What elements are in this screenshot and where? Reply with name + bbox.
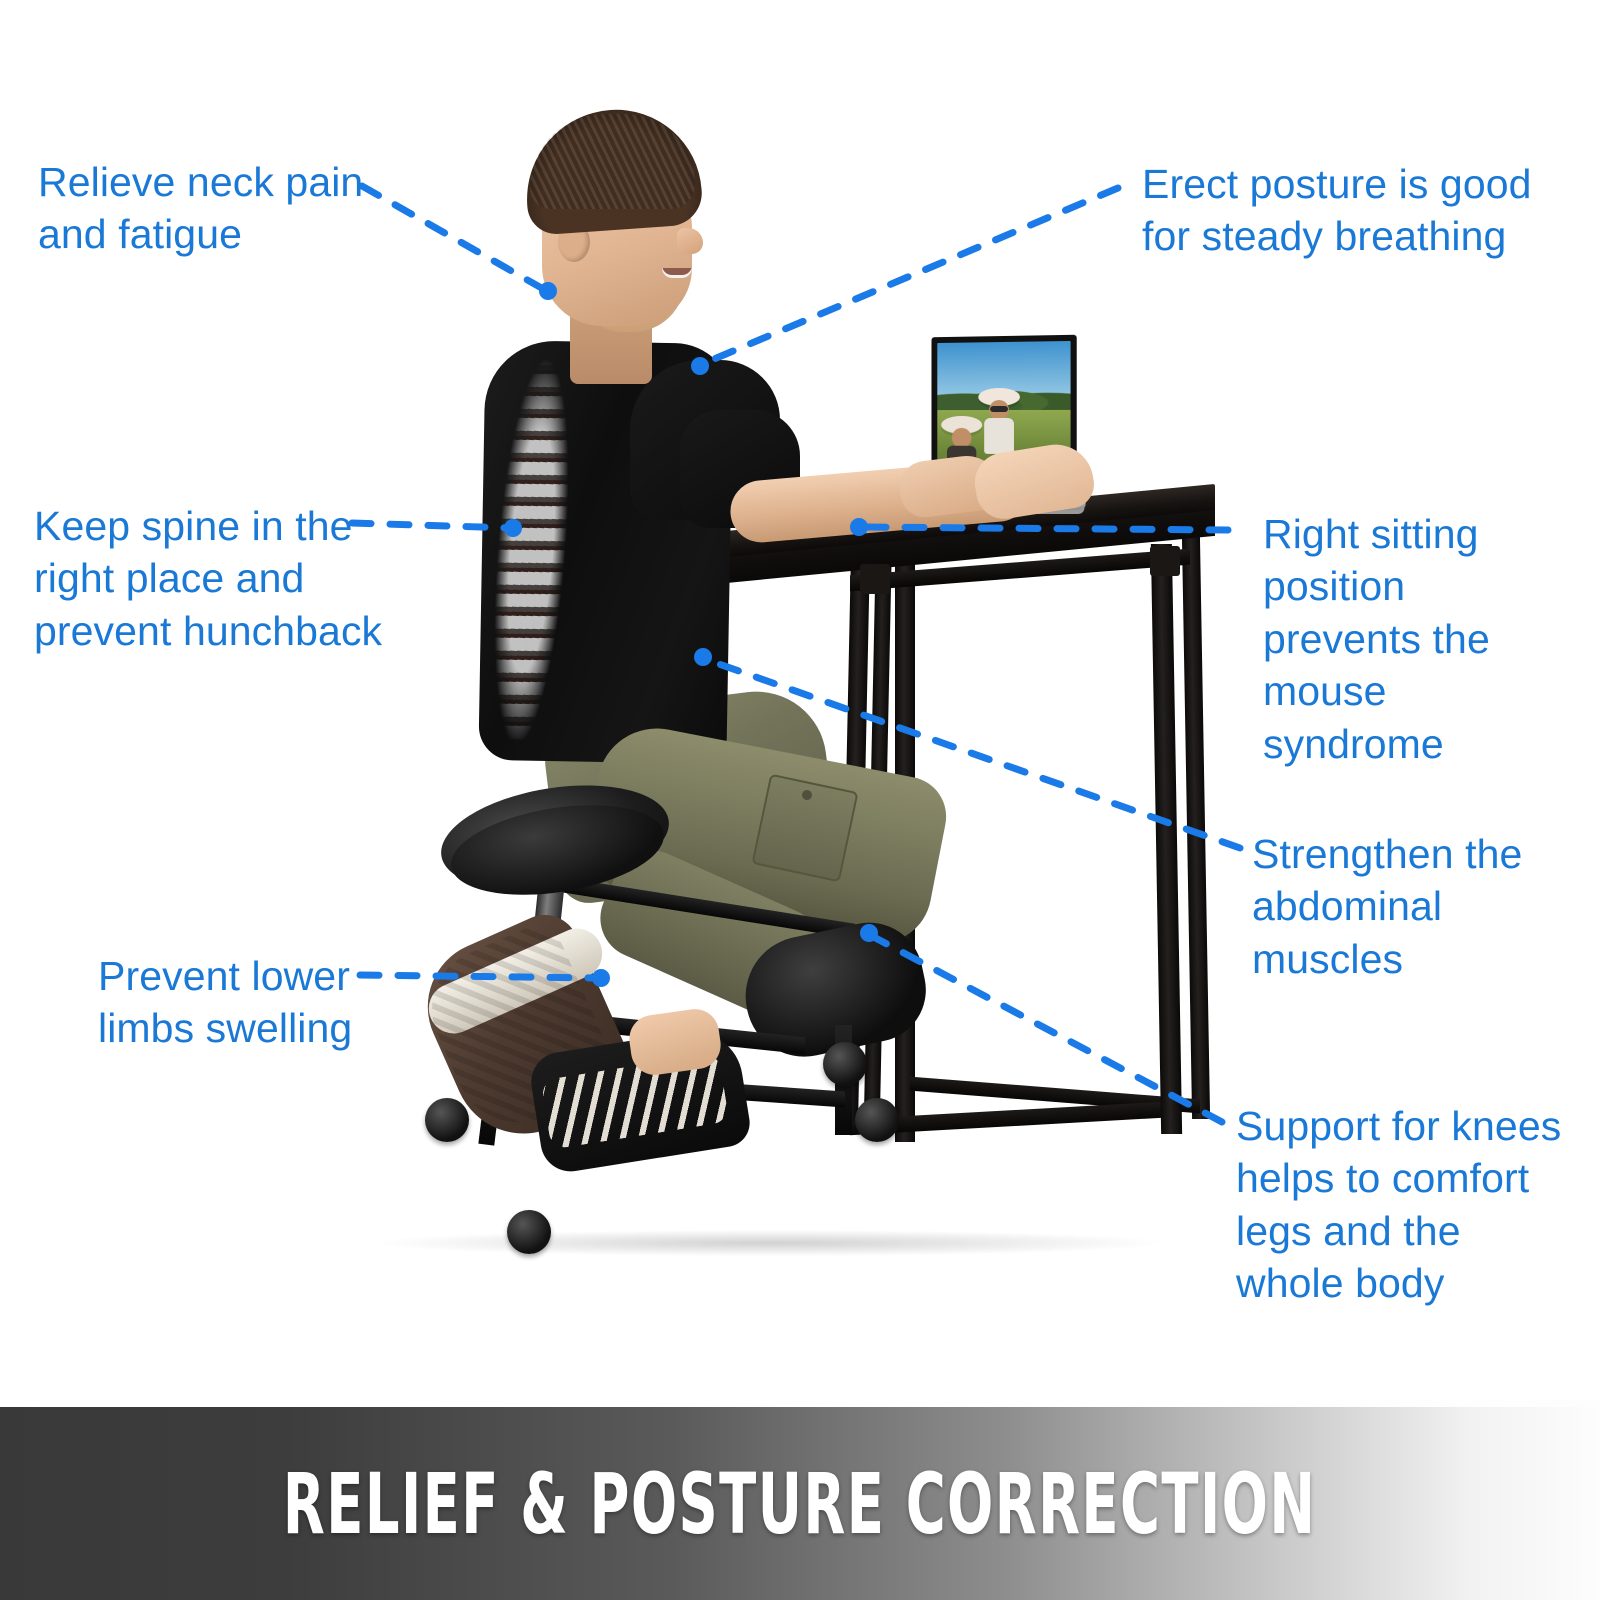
desk-leg-back-right — [1182, 534, 1210, 1119]
annotation-right-sitting-position: Right sitting position prevents the mous… — [1263, 508, 1490, 770]
nose — [677, 228, 703, 254]
annotation-prevent-lower-limbs-swelling: Prevent lower limbs swelling — [98, 950, 352, 1055]
chair-caster-rear — [823, 1042, 867, 1086]
desk-bracket-right — [1150, 546, 1180, 576]
annotation-strengthen-abdominal: Strengthen the abdominal muscles — [1252, 828, 1522, 985]
banner-title: RELIEF & POSTURE CORRECTION — [283, 1455, 1316, 1553]
annotation-keep-spine: Keep spine in the right place and preven… — [34, 500, 382, 657]
chair-frame-upper — [555, 876, 855, 939]
product-photo-stage: Relieve neck pain and fatigue Erect post… — [0, 0, 1600, 1400]
desk-leg-front-right — [1151, 544, 1182, 1134]
chair-caster-right — [855, 1098, 899, 1142]
annotation-erect-posture: Erect posture is good for steady breathi… — [1142, 158, 1532, 263]
product-infographic: Relieve neck pain and fatigue Erect post… — [0, 0, 1600, 1600]
chair-caster-front — [507, 1210, 551, 1254]
annotation-relieve-neck-pain: Relieve neck pain and fatigue — [38, 156, 363, 261]
chair-caster-left — [425, 1098, 469, 1142]
bottom-banner: RELIEF & POSTURE CORRECTION — [0, 1407, 1600, 1600]
kneeling-chair — [415, 780, 935, 1260]
banner-top-edge — [0, 1400, 1600, 1407]
annotation-support-for-knees: Support for knees helps to comfort legs … — [1236, 1100, 1561, 1310]
sunglasses-icon — [990, 406, 1008, 412]
